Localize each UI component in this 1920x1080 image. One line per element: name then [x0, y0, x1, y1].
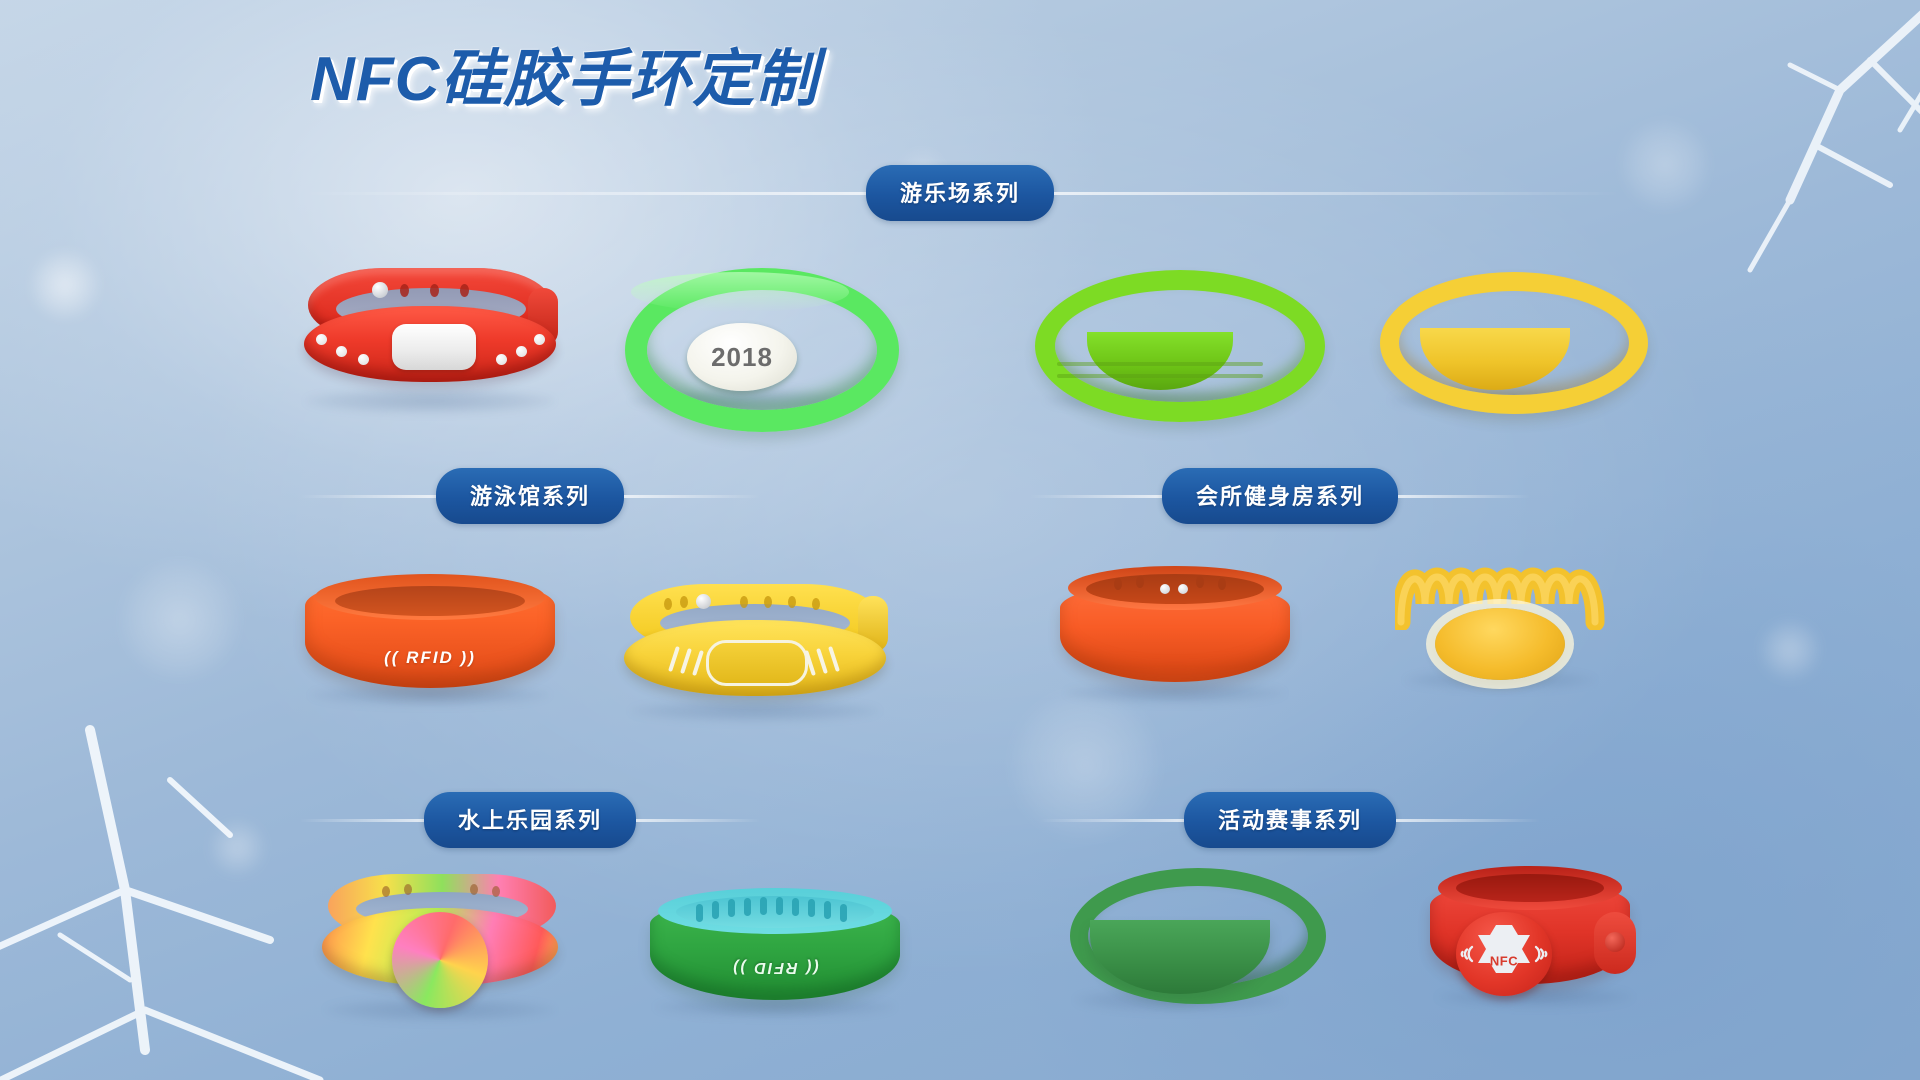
- rule-right: [1054, 192, 1620, 195]
- band-opening: [1456, 874, 1604, 902]
- product-yellow-adjustable-wave[interactable]: [620, 582, 890, 712]
- nfc-wave-left-icon: [1458, 942, 1476, 966]
- product-orange-stud-cuff[interactable]: [1060, 566, 1290, 694]
- knob-dot: [1605, 932, 1625, 952]
- section-header-amusement-park: 游乐场系列: [300, 165, 1620, 221]
- strap-slot: [760, 897, 767, 915]
- strap-hole: [664, 598, 672, 610]
- rule-left: [1040, 819, 1184, 822]
- bokeh-dot: [1760, 620, 1820, 680]
- bokeh-dot: [1620, 120, 1710, 210]
- band-highlight: [631, 272, 849, 312]
- rule-left: [300, 495, 436, 498]
- rule-left: [300, 192, 866, 195]
- band-stud: [516, 346, 527, 357]
- strap-slot: [728, 899, 735, 917]
- nfc-tag-plate: [392, 324, 476, 370]
- strap-hole: [788, 596, 796, 608]
- strap-hole: [470, 884, 478, 895]
- section-header-water-park: 水上乐园系列: [300, 792, 760, 848]
- band-face-oval: 2018: [687, 323, 797, 391]
- band-stud: [496, 354, 507, 365]
- product-shadow: [1065, 682, 1285, 704]
- bokeh-dot: [120, 560, 240, 680]
- product-yellow-oval[interactable]: [1380, 272, 1610, 400]
- band-stud: [316, 334, 327, 345]
- strap-hole: [1196, 576, 1204, 588]
- section-header-swimming-pool: 游泳馆系列: [300, 468, 760, 524]
- section-header-club-gym: 会所健身房系列: [1030, 468, 1530, 524]
- strap-hole: [382, 886, 390, 897]
- strap-slot: [824, 901, 831, 919]
- band-face-disc: NFC: [1456, 912, 1552, 996]
- strap-slot: [712, 901, 719, 919]
- product-red-nfc-medical[interactable]: NFC: [1430, 866, 1640, 998]
- product-green-teal-rfid[interactable]: (( RFID )): [650, 888, 900, 1008]
- strap-pin: [696, 594, 711, 609]
- product-red-adjustable-tag[interactable]: [300, 262, 560, 402]
- product-yellow-wavy-disc[interactable]: [1395, 552, 1605, 682]
- section-pill-club-gym[interactable]: 会所健身房系列: [1162, 468, 1398, 524]
- strap-hole: [740, 596, 748, 608]
- nfc-wave-right-icon: [1532, 942, 1550, 966]
- page-title: NFC硅胶手环定制: [310, 28, 818, 118]
- strap-slot: [792, 898, 799, 916]
- band-face-text: 2018: [711, 342, 773, 373]
- product-shadow: [305, 388, 555, 414]
- band-knob: [1594, 912, 1636, 974]
- product-green-oval-2018[interactable]: 2018: [625, 268, 855, 398]
- band-stud: [336, 346, 347, 357]
- band-opening: [335, 586, 525, 616]
- rule-left: [300, 819, 424, 822]
- strap-hole: [460, 284, 469, 297]
- strap-slot: [744, 898, 751, 916]
- section-pill-events[interactable]: 活动赛事系列: [1184, 792, 1396, 848]
- nfc-label-text: NFC: [1490, 953, 1518, 968]
- product-lightgreen-ribbed[interactable]: [1035, 270, 1285, 400]
- strap-hole: [404, 884, 412, 895]
- product-shadow: [1438, 986, 1633, 1008]
- strap-slot: [776, 897, 783, 915]
- product-tiedye-disc[interactable]: [320, 872, 560, 1010]
- strap-pin: [372, 282, 388, 298]
- band-stud: [534, 334, 545, 345]
- strap-slot: [808, 899, 815, 917]
- rule-left: [1030, 495, 1162, 498]
- rule-right: [624, 495, 760, 498]
- strap-hole: [764, 596, 772, 608]
- strap-hole: [1136, 576, 1144, 588]
- band-rfid-label: (( RFID )): [305, 648, 555, 668]
- product-shadow: [630, 700, 880, 722]
- band-rib: [1057, 374, 1263, 378]
- strap-hole: [1114, 578, 1122, 590]
- strap-hole: [430, 284, 439, 297]
- bokeh-dot: [210, 820, 265, 875]
- band-rib: [1057, 362, 1263, 366]
- strap-hole: [680, 596, 688, 608]
- nfc-tag-plate: [706, 640, 808, 686]
- product-orange-rfid-cuff[interactable]: (( RFID )): [305, 576, 555, 696]
- poster-canvas: NFC硅胶手环定制 游乐场系列 2018: [0, 0, 1920, 1080]
- rule-right: [1398, 495, 1530, 498]
- section-pill-water-park[interactable]: 水上乐园系列: [424, 792, 636, 848]
- rule-right: [636, 819, 760, 822]
- band-stud: [1160, 584, 1170, 594]
- band-stud: [1178, 584, 1188, 594]
- strap-hole: [812, 598, 820, 610]
- bokeh-dot: [30, 250, 100, 320]
- product-dark-green-cuff[interactable]: [1070, 868, 1290, 998]
- strap-slot: [696, 904, 703, 922]
- band-rfid-label: (( RFID )): [650, 958, 900, 976]
- strap-hole: [400, 284, 409, 297]
- rule-right: [1396, 819, 1540, 822]
- band-face-oval: [1435, 608, 1565, 680]
- section-pill-swimming-pool[interactable]: 游泳馆系列: [436, 468, 624, 524]
- strap-hole: [1218, 578, 1226, 590]
- band-opening: [1086, 574, 1264, 604]
- strap-slot: [840, 904, 847, 922]
- band-face-disc: [392, 912, 488, 1008]
- section-pill-amusement-park[interactable]: 游乐场系列: [866, 165, 1054, 221]
- strap-hole: [492, 886, 500, 897]
- section-header-events: 活动赛事系列: [1040, 792, 1540, 848]
- band-stud: [358, 354, 369, 365]
